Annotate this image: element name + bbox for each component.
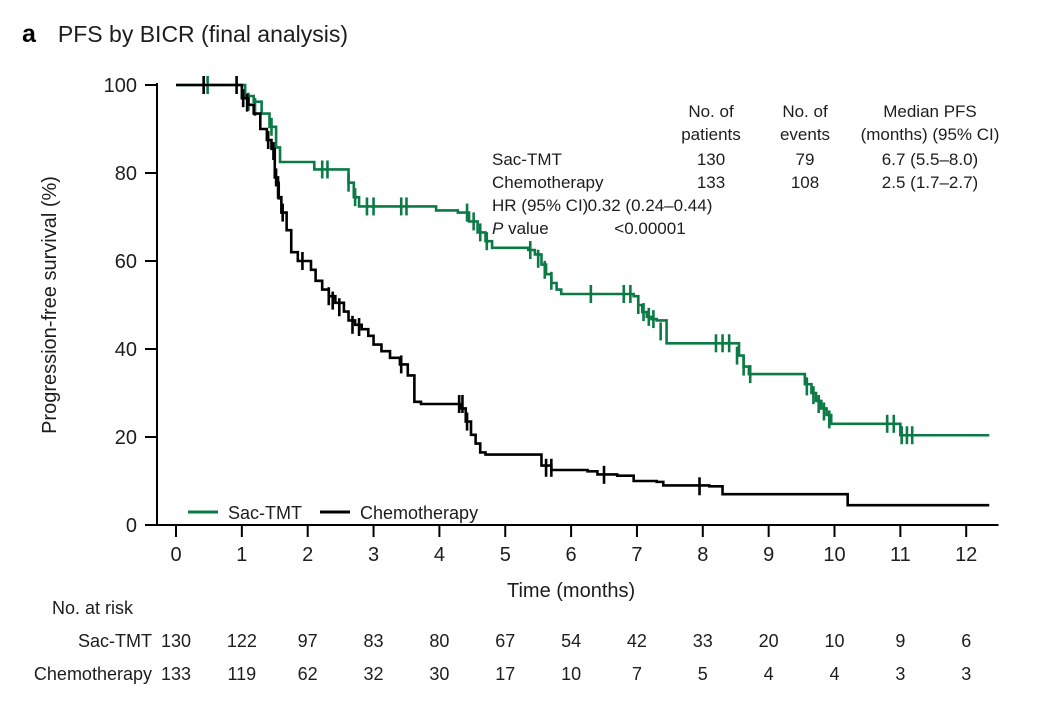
- stats-patients: 130: [697, 150, 725, 169]
- risk-table: No. at riskSac-TMT1301229783806754423320…: [34, 598, 971, 684]
- x-tick-label: 5: [500, 544, 511, 566]
- risk-value: 130: [161, 631, 191, 651]
- risk-value: 67: [495, 631, 515, 651]
- x-tick-label: 3: [368, 544, 379, 566]
- legend-layer: Sac-TMTChemotherapy: [188, 503, 478, 523]
- risk-value: 80: [429, 631, 449, 651]
- risk-value: 33: [693, 631, 713, 651]
- y-tick-label: 0: [126, 515, 137, 537]
- risk-value: 30: [429, 664, 449, 684]
- panel-header: a PFS by BICR (final analysis): [22, 22, 348, 47]
- km-plot: 0204060801000123456789101112Time (months…: [0, 0, 1041, 705]
- risk-value: 133: [161, 664, 191, 684]
- y-axis-label: Progression-free survival (%): [39, 176, 61, 434]
- risk-value: 4: [764, 664, 774, 684]
- stats-row-label: Chemotherapy: [492, 173, 604, 192]
- risk-value: 3: [895, 664, 905, 684]
- y-tick-label: 60: [115, 251, 137, 273]
- x-tick-label: 7: [631, 544, 642, 566]
- risk-value: 42: [627, 631, 647, 651]
- y-tick-label: 40: [115, 339, 137, 361]
- x-tick-label: 8: [697, 544, 708, 566]
- stats-header: No. of: [688, 102, 734, 121]
- stats-median-pfs: 2.5 (1.7–2.7): [882, 173, 978, 192]
- risk-value: 54: [561, 631, 581, 651]
- stats-events: 108: [791, 173, 819, 192]
- risk-value: 32: [364, 664, 384, 684]
- stats-header: Median PFS: [883, 102, 977, 121]
- stats-header: No. of: [782, 102, 828, 121]
- stats-table: No. ofpatientsNo. ofeventsMedian PFS(mon…: [492, 102, 999, 238]
- y-tick-label: 100: [104, 75, 137, 97]
- x-tick-label: 12: [955, 544, 977, 566]
- risk-value: 6: [961, 631, 971, 651]
- x-tick-label: 10: [823, 544, 845, 566]
- risk-value: 122: [227, 631, 257, 651]
- stats-median-pfs: 6.7 (5.5–8.0): [882, 150, 978, 169]
- risk-value: 119: [227, 664, 256, 684]
- x-axis-label: Time (months): [507, 580, 635, 602]
- stats-events: 79: [796, 150, 815, 169]
- risk-table-title: No. at risk: [52, 598, 134, 618]
- risk-value: 4: [829, 664, 839, 684]
- y-tick-label: 80: [115, 163, 137, 185]
- risk-value: 62: [298, 664, 318, 684]
- stats-patients: 133: [697, 173, 725, 192]
- risk-row-label-chemotherapy: Chemotherapy: [34, 664, 152, 684]
- risk-value: 9: [895, 631, 905, 651]
- legend-label-chemotherapy: Chemotherapy: [360, 503, 478, 523]
- risk-value: 5: [698, 664, 708, 684]
- stats-header: events: [780, 125, 830, 144]
- x-tick-label: 0: [170, 544, 181, 566]
- risk-row-label-sac-tmt: Sac-TMT: [78, 631, 152, 651]
- x-tick-label: 1: [236, 544, 247, 566]
- stats-row-label: Sac-TMT: [492, 150, 562, 169]
- risk-value: 97: [298, 631, 318, 651]
- page-title: PFS by BICR (final analysis): [58, 23, 348, 46]
- stats-header: (months) (95% CI): [861, 125, 1000, 144]
- figure-panel-a: a PFS by BICR (final analysis) 020406080…: [0, 0, 1041, 705]
- x-tick-label: 6: [566, 544, 577, 566]
- y-tick-label: 20: [115, 427, 137, 449]
- censor-marks-chemotherapy: [204, 76, 700, 495]
- risk-value: 20: [759, 631, 779, 651]
- stats-hr-value: 0.32 (0.24–0.44): [588, 196, 713, 215]
- risk-value: 10: [824, 631, 844, 651]
- legend-label-sac-tmt: Sac-TMT: [228, 503, 302, 523]
- stats-header: patients: [681, 125, 741, 144]
- stats-pvalue-value: <0.00001: [614, 219, 685, 238]
- stats-hr-label: HR (95% CI): [492, 196, 588, 215]
- panel-letter: a: [22, 22, 36, 47]
- x-tick-label: 2: [302, 544, 313, 566]
- x-tick-label: 4: [434, 544, 445, 566]
- stats-pvalue-label: P value: [492, 219, 549, 238]
- risk-value: 83: [364, 631, 384, 651]
- x-tick-label: 11: [890, 544, 911, 566]
- x-tick-label: 9: [763, 544, 774, 566]
- risk-value: 7: [632, 664, 642, 684]
- risk-value: 10: [561, 664, 581, 684]
- risk-value: 17: [495, 664, 515, 684]
- risk-value: 3: [961, 664, 971, 684]
